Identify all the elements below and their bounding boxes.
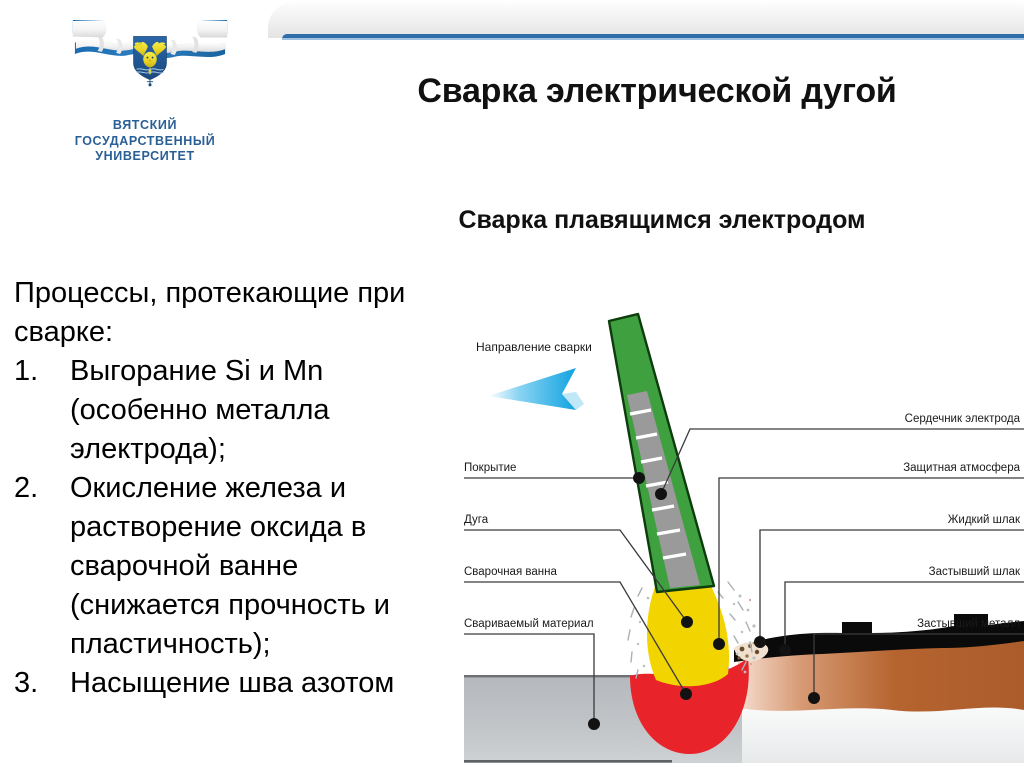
page-title: Сварка электрической дугой: [290, 72, 1024, 111]
label-arc: Дуга: [464, 514, 488, 526]
label-liquid-slag: Жидкий шлак: [948, 514, 1020, 526]
slide-root: ВЯТСКИЙ ГОСУДАРСТВЕННЫЙ УНИВЕРСИТЕТ Свар…: [0, 0, 1024, 767]
welding-direction-label: Направление сварки: [476, 340, 592, 354]
list-item: 3. Насыщение шва азотом: [14, 664, 446, 703]
label-shielding-atmosphere: Защитная атмосфера: [903, 462, 1020, 474]
list-item-number: 1.: [14, 352, 60, 391]
list-item-number: 3.: [14, 664, 60, 703]
label-solidified-metal: Застывший металл: [917, 618, 1020, 630]
list-item-text: Насыщение шва азотом: [70, 667, 394, 699]
ribbon-graphic: [0, 20, 300, 110]
label-base-material: Свариваемый материал: [464, 618, 594, 630]
label-coating: Покрытие: [464, 462, 516, 474]
list-item-text: Окисление железа и растворение оксида в …: [70, 472, 390, 660]
label-solidified-slag: Застывший шлак: [929, 566, 1020, 578]
logo-line-2: ГОСУДАРСТВЕННЫЙ: [0, 134, 290, 150]
logo-text: ВЯТСКИЙ ГОСУДАРСТВЕННЫЙ УНИВЕРСИТЕТ: [0, 118, 290, 165]
logo-line-1: ВЯТСКИЙ: [0, 118, 290, 134]
list-item: 2. Окисление железа и растворение оксида…: [14, 469, 446, 664]
list-item-number: 2.: [14, 469, 60, 508]
welding-direction-arrow: [488, 368, 584, 410]
welding-diagram-svg: [442, 292, 1024, 767]
welding-diagram: Направление сварки Покрытие Дуга Сварочн…: [442, 292, 1024, 767]
section-subtitle: Сварка плавящимся электродом: [300, 206, 1024, 235]
university-logo: ВЯТСКИЙ ГОСУДАРСТВЕННЫЙ УНИВЕРСИТЕТ: [0, 0, 300, 175]
list-item-text: Выгорание Si и Mn (особенно металла элек…: [70, 355, 330, 465]
arc-zone: [647, 584, 729, 686]
list-item: 1. Выгорание Si и Mn (особенно металла э…: [14, 352, 446, 469]
label-electrode-core: Сердечник электрода: [905, 413, 1020, 425]
intro-text: Процессы, протекающие при сварке:: [14, 274, 446, 352]
process-list: 1. Выгорание Si и Mn (особенно металла э…: [14, 352, 446, 703]
label-weld-pool: Сварочная ванна: [464, 566, 557, 578]
process-text-block: Процессы, протекающие при сварке: 1. Выг…: [14, 274, 446, 703]
electrode: [609, 314, 714, 592]
header-accent-line: [282, 34, 1024, 39]
header-band: [268, 2, 1024, 38]
logo-line-3: УНИВЕРСИТЕТ: [0, 149, 290, 165]
